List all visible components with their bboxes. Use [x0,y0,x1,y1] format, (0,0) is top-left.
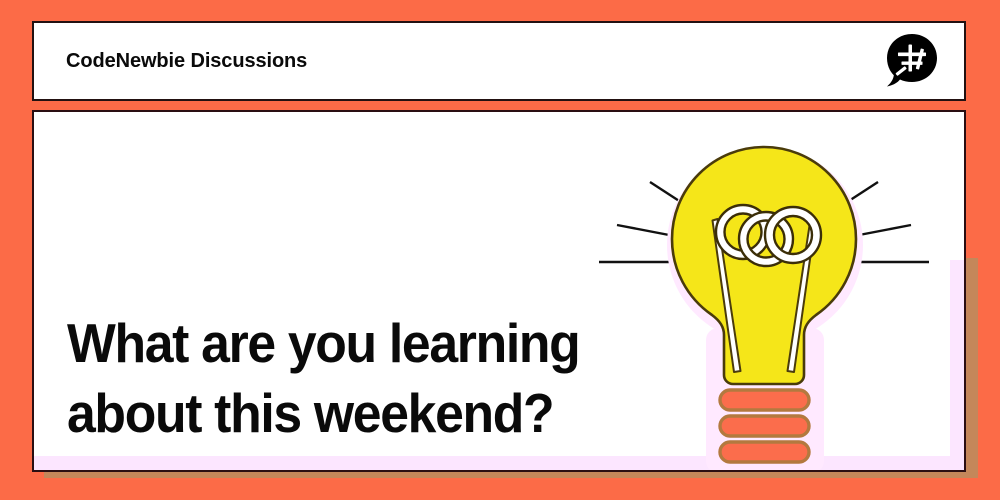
bulb-screw-base [720,390,809,462]
page-title: CodeNewbie Discussions [66,50,307,73]
headline-line-1: What are you learning [67,308,593,378]
headline-line-2: about this weekend? [67,378,593,448]
headline: What are you learning about this weekend… [67,308,593,448]
codenewbie-speech-bubble-logo [882,31,942,91]
header-card: CodeNewbie Discussions [32,21,966,101]
main-card: What are you learning about this weekend… [32,110,966,472]
cover-image: CodeNewbie Discussions [0,0,1000,500]
lightbulb-illustration [554,122,966,472]
